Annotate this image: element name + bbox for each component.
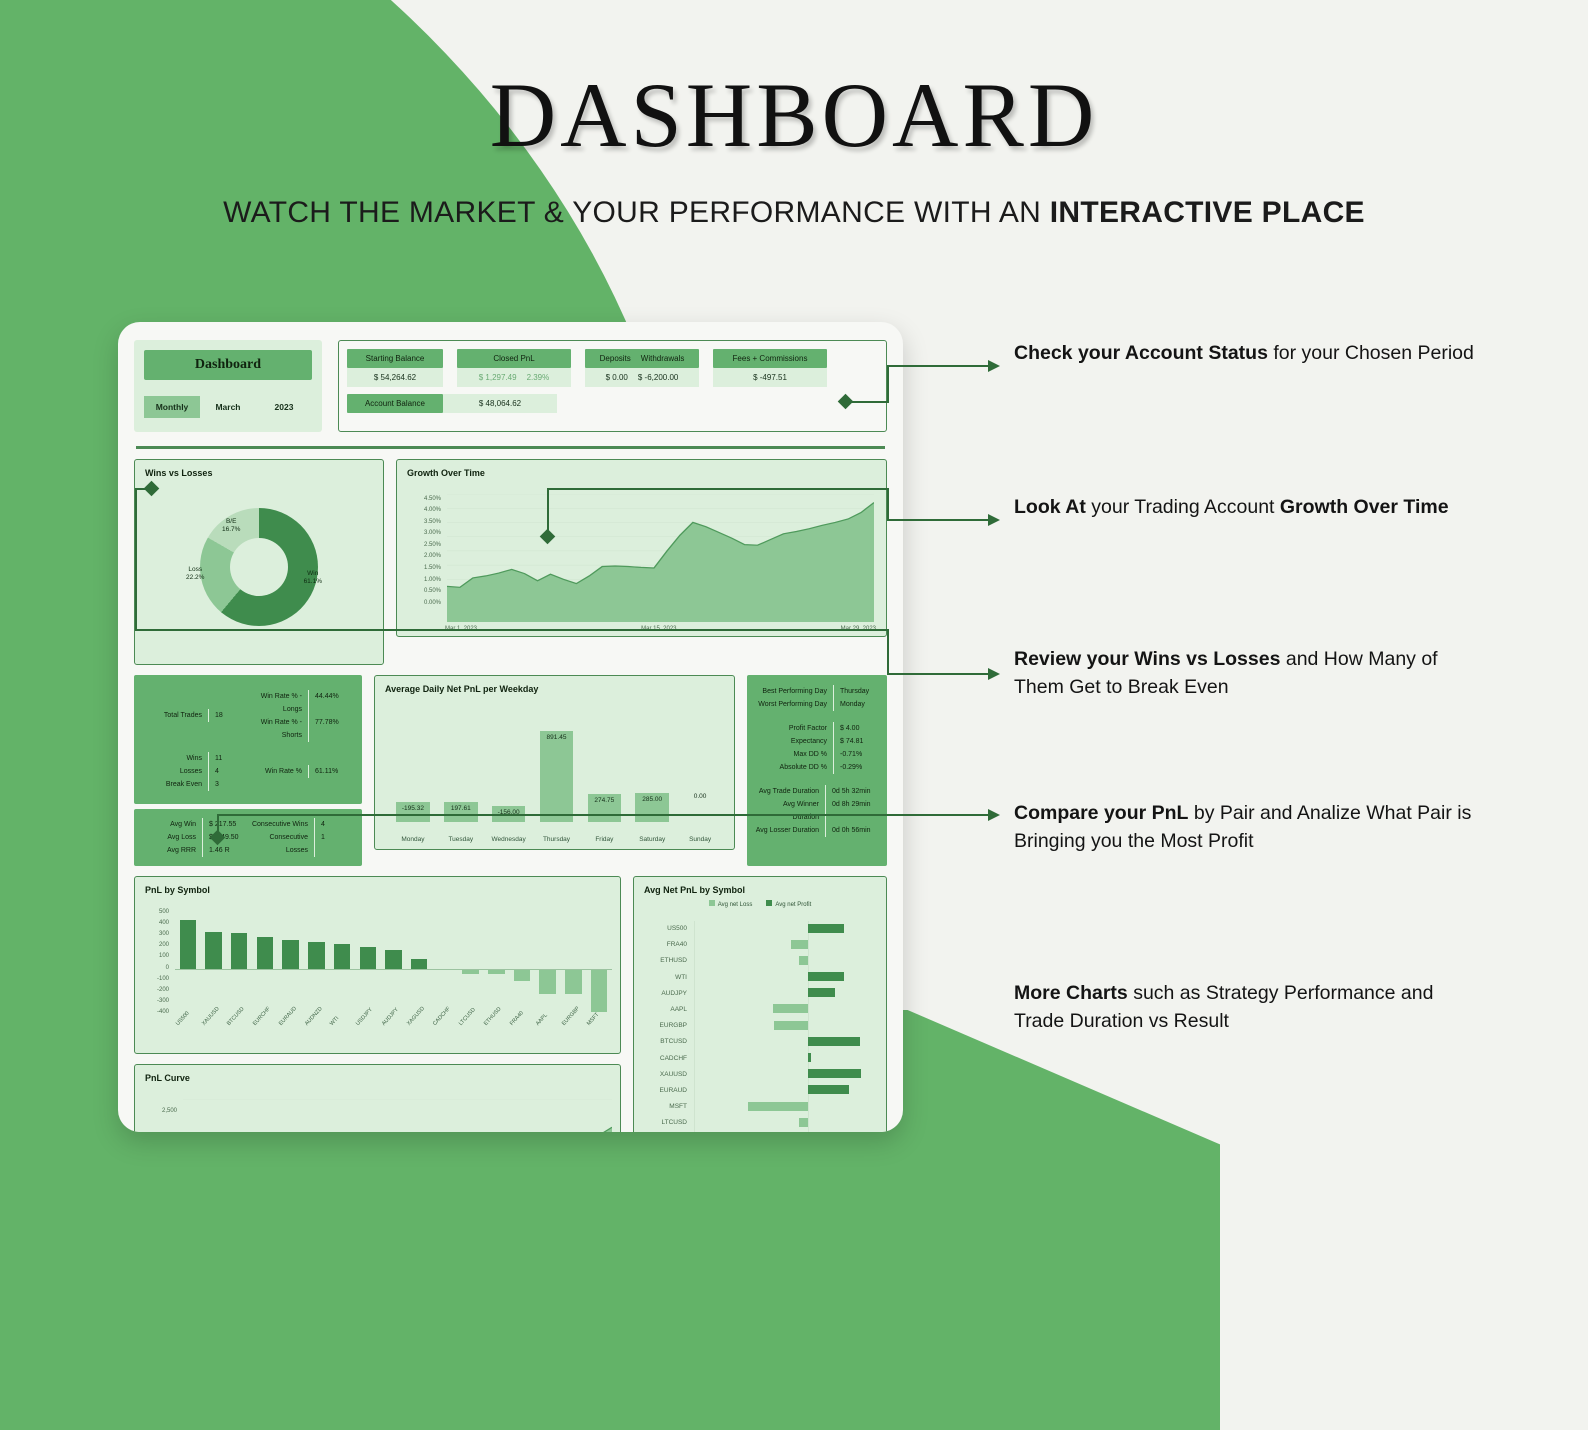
avg-net-track <box>694 1050 878 1066</box>
deposits-withdrawals-values: $ 0.00 $ -6,200.00 <box>585 368 699 387</box>
weekday-bar: -195.32 <box>396 802 430 822</box>
symbol-bar-col <box>252 907 278 1019</box>
avg-net-profit-bar <box>808 1085 849 1094</box>
page-title: DASHBOARD <box>0 62 1588 168</box>
avg-net-row: AAPL <box>642 1001 878 1017</box>
symbol-bar <box>539 969 555 994</box>
growth-y-axis: 4.50%4.00% 3.50%3.00% 2.50%2.00% 1.50%1.… <box>407 494 441 610</box>
deposits-value: $ 0.00 <box>606 373 628 382</box>
charts-row-2: Total Trades18 Win Rate % - Longs44.44% … <box>134 675 887 866</box>
avg-net-track <box>694 1066 878 1082</box>
annotation-growth: Look At your Trading Account Growth Over… <box>1014 494 1484 522</box>
weekday-bar-value: 0.00 <box>694 793 707 800</box>
stat-deposits-withdrawals: Deposits Withdrawals $ 0.00 $ -6,200.00 <box>585 349 699 387</box>
charts-row-1: Wins vs Losses Win61.1% Loss22.2% B/E16.… <box>134 459 887 665</box>
weekday-label: Wednesday <box>485 836 533 843</box>
avg-net-track <box>694 1018 878 1034</box>
stat-starting-balance: Starting Balance $ 54,264.62 <box>347 349 443 387</box>
weekday-x-axis: MondayTuesdayWednesdayThursdayFridaySatu… <box>389 836 724 843</box>
symbol-bar-col <box>329 907 355 1019</box>
avg-net-row: LTCUSD <box>642 1115 878 1131</box>
pnl-symbol-x-axis: US500XAUUSDBTCUSDEURCHFEURAUDAUDNZDWTIUS… <box>175 1023 612 1029</box>
control-panel: Dashboard Monthly March 2023 <box>134 340 322 432</box>
pnl-curve-y-axis: 2,5002,0001,5001,000 <box>143 1097 177 1133</box>
fees-value: $ -497.51 <box>713 368 827 387</box>
weekday-bar: 197.61 <box>444 802 478 822</box>
weekday-pnl-chart: Average Daily Net PnL per Weekday -195.3… <box>374 675 735 850</box>
symbol-bar-col <box>278 907 304 1019</box>
weekday-bar: 285.00 <box>635 793 669 822</box>
weekday-label: Friday <box>580 836 628 843</box>
axis-zero <box>808 937 809 953</box>
axis-zero <box>808 1099 809 1115</box>
symbol-bar-col <box>483 907 509 1019</box>
growth-over-time-chart: Growth Over Time 4.50%4.00% 3.50%3.00% 2… <box>396 459 887 637</box>
pnl-by-symbol-chart: PnL by Symbol 5004003002001000-100-200-3… <box>134 876 621 1054</box>
subtitle-bold: INTERACTIVE PLACE <box>1050 196 1365 229</box>
avg-net-row: XAUUSD <box>642 1066 878 1082</box>
donut-chart <box>200 508 318 626</box>
dashboard-label: Dashboard <box>144 350 312 380</box>
donut-wrapper: Win61.1% Loss22.2% B/E16.7% <box>145 478 373 656</box>
growth-title: Growth Over Time <box>407 468 876 478</box>
avg-net-track <box>694 1034 878 1050</box>
avg-net-track <box>694 921 878 937</box>
axis-zero <box>808 953 809 969</box>
legend-avg-net-profit: Avg net Profit <box>766 900 811 908</box>
axis-zero <box>808 1001 809 1017</box>
symbol-bar <box>257 937 273 968</box>
weekday-bar-col: 891.45 <box>533 712 581 822</box>
avg-net-symbol-label: US500 <box>642 925 694 932</box>
period-monthly[interactable]: Monthly <box>144 396 200 418</box>
avg-net-loss-bar <box>791 940 808 949</box>
avg-net-row: MSFT <box>642 1099 878 1115</box>
avg-net-profit-bar <box>808 1037 859 1046</box>
avg-net-row: FRA40 <box>642 937 878 953</box>
account-balance-row: Account Balance $ 48,064.62 <box>347 394 878 413</box>
avg-net-row: AUDNZD <box>642 1131 878 1132</box>
page-header: DASHBOARD WATCH THE MARKET & YOUR PERFOR… <box>0 0 1588 230</box>
avg-net-row: AUDJPY <box>642 985 878 1001</box>
section-divider <box>136 446 885 449</box>
weekday-bar-value: -195.32 <box>396 805 430 812</box>
avg-net-symbol-label: CADCHF <box>642 1055 694 1062</box>
pnl-symbol-y-axis: 5004003002001000-100-200-300-400 <box>143 907 169 1019</box>
axis-tick: 200 <box>143 940 169 951</box>
starting-balance-value: $ 54,264.62 <box>347 368 443 387</box>
wins-vs-losses-title: Wins vs Losses <box>145 468 373 478</box>
charts-row-3: PnL by Symbol 5004003002001000-100-200-3… <box>134 876 887 1133</box>
avg-net-profit-bar <box>808 924 843 933</box>
account-status-row: Starting Balance $ 54,264.62 Closed PnL … <box>347 349 878 387</box>
symbol-bar-col <box>381 907 407 1019</box>
withdrawals-label: Withdrawals <box>641 354 685 363</box>
avg-net-loss-bar <box>799 956 809 965</box>
winrate-group: Win Rate %61.11% <box>248 765 354 778</box>
pnl-curve-title: PnL Curve <box>145 1073 610 1083</box>
donut-label-be: B/E16.7% <box>222 518 240 534</box>
stat-closed-pnl: Closed PnL $ 1,297.49 2.39% <box>457 349 571 387</box>
symbol-bar-col <box>304 907 330 1019</box>
avg-net-row: ETHUSD <box>642 953 878 969</box>
period-selector[interactable]: Monthly March 2023 <box>144 396 312 418</box>
symbol-bar <box>334 944 350 969</box>
weekday-bar-col: -156.00 <box>485 712 533 822</box>
axis-tick: 400 <box>143 918 169 929</box>
closed-pnl-pct: 2.39% <box>527 373 550 382</box>
avg-net-title: Avg Net PnL by Symbol <box>644 885 876 895</box>
weekday-bar-col: 197.61 <box>437 712 485 822</box>
avg-net-loss-bar <box>748 1102 809 1111</box>
axis-tick: -200 <box>143 985 169 996</box>
axis-tick: 500 <box>143 907 169 918</box>
closed-pnl-label: Closed PnL <box>457 349 571 368</box>
avg-net-legend: Avg net Loss Avg net Profit <box>644 900 876 908</box>
weekday-label: Thursday <box>533 836 581 843</box>
symbol-bar <box>180 920 196 969</box>
avg-net-profit-bar <box>808 972 844 981</box>
annotation-wins-losses: Review your Wins vs Losses and How Many … <box>1014 646 1484 701</box>
symbol-bar-col <box>226 907 252 1019</box>
factors-group: Profit Factor$ 4.00 Expectancy$ 74.81 Ma… <box>755 722 879 774</box>
symbol-bar-col <box>355 907 381 1019</box>
axis-tick: 0 <box>143 963 169 974</box>
axis-tick: -400 <box>143 1007 169 1018</box>
avg-net-track <box>694 1115 878 1131</box>
avg-net-row: BTCUSD <box>642 1034 878 1050</box>
legend-avg-net-loss: Avg net Loss <box>709 900 753 908</box>
weekday-label: Saturday <box>628 836 676 843</box>
symbol-bar-col <box>406 907 432 1019</box>
account-balance-label: Account Balance <box>347 394 443 413</box>
total-trades-group: Total Trades18 <box>142 709 248 722</box>
avg-net-track <box>694 953 878 969</box>
avg-net-row: CADCHF <box>642 1050 878 1066</box>
weekday-bar-value: 891.45 <box>540 734 574 741</box>
avg-net-pnl-chart: Avg Net PnL by Symbol Avg net Loss Avg n… <box>633 876 887 1133</box>
symbol-bar-col <box>458 907 484 1019</box>
dashboard-card: Dashboard Monthly March 2023 Starting Ba… <box>118 322 903 1132</box>
weekday-bar-value: 274.75 <box>588 797 622 804</box>
averages-group: Avg Win$ 217.55 Avg Loss$ -149.50 Avg RR… <box>142 818 248 857</box>
weekday-bar: -156.00 <box>492 806 526 822</box>
performing-days-group: Best Performing DayThursday Worst Perfor… <box>755 685 879 711</box>
avg-net-track <box>694 969 878 985</box>
axis-zero <box>808 1018 809 1034</box>
avg-net-symbol-label: EURAUD <box>642 1087 694 1094</box>
avg-net-symbol-label: XAUUSD <box>642 1071 694 1078</box>
axis-tick: 100 <box>143 951 169 962</box>
weekday-label: Monday <box>389 836 437 843</box>
weekday-title: Average Daily Net PnL per Weekday <box>385 684 724 694</box>
outcome-group: Wins11 Losses4 Break Even3 <box>142 752 248 791</box>
period-year[interactable]: 2023 <box>256 396 312 418</box>
symbol-bar-col <box>509 907 535 1019</box>
page-subtitle: WATCH THE MARKET & YOUR PERFORMANCE WITH… <box>0 196 1588 230</box>
winrate-ls-group: Win Rate % - Longs44.44% Win Rate % - Sh… <box>248 690 354 742</box>
avg-net-track <box>694 985 878 1001</box>
avg-net-symbol-label: AAPL <box>642 1006 694 1013</box>
avg-net-row: EURGBP <box>642 1018 878 1034</box>
symbol-bar-col <box>201 907 227 1019</box>
performance-panel: Best Performing DayThursday Worst Perfor… <box>747 675 887 866</box>
axis-zero <box>808 1131 809 1132</box>
symbol-bar-col <box>535 907 561 1019</box>
period-month[interactable]: March <box>200 396 256 418</box>
metrics-bottom: Avg Win$ 217.55 Avg Loss$ -149.50 Avg RR… <box>134 809 362 866</box>
annotation-account-status: Check your Account Status for your Chose… <box>1014 340 1484 368</box>
avg-net-profit-bar <box>808 988 834 997</box>
weekday-label: Tuesday <box>437 836 485 843</box>
weekday-bar-col: 274.75 <box>580 712 628 822</box>
avg-net-symbol-label: FRA40 <box>642 941 694 948</box>
axis-tick: 2,000 <box>143 1125 177 1133</box>
avg-net-symbol-label: AUDJPY <box>642 990 694 997</box>
withdrawals-value: $ -6,200.00 <box>638 373 678 382</box>
symbol-bar <box>565 969 581 994</box>
metrics-top: Total Trades18 Win Rate % - Longs44.44% … <box>134 675 362 804</box>
closed-pnl-values: $ 1,297.49 2.39% <box>457 368 571 387</box>
growth-x-axis: Mar 1, 2023 Mar 15, 2023 Mar 29, 2023 <box>445 626 876 632</box>
axis-tick: -300 <box>143 996 169 1007</box>
symbol-bar-col <box>175 907 201 1019</box>
avg-net-track <box>694 937 878 953</box>
annotation-more-charts: More Charts such as Strategy Performance… <box>1014 980 1484 1035</box>
avg-net-symbol-label: BTCUSD <box>642 1038 694 1045</box>
avg-net-profit-bar <box>808 1053 810 1062</box>
symbol-bar <box>514 969 530 981</box>
metrics-panel: Total Trades18 Win Rate % - Longs44.44% … <box>134 675 362 866</box>
symbol-bar-col <box>586 907 612 1019</box>
avg-net-track <box>694 1099 878 1115</box>
avg-net-symbol-label: ETHUSD <box>642 957 694 964</box>
deposits-label: Deposits <box>600 354 631 363</box>
symbol-bar <box>385 950 401 969</box>
starting-balance-label: Starting Balance <box>347 349 443 368</box>
stat-fees-commissions: Fees + Commissions $ -497.51 <box>713 349 827 387</box>
avg-net-rows: US500FRA40ETHUSDWTIAUDJPYAAPLEURGBPBTCUS… <box>642 921 878 1133</box>
durations-group: Avg Trade Duration0d 5h 32min Avg Winner… <box>755 785 879 837</box>
symbol-bar <box>231 933 247 969</box>
avg-net-profit-bar <box>808 1069 860 1078</box>
avg-net-track <box>694 1131 878 1132</box>
avg-net-symbol-label: LTCUSD <box>642 1119 694 1126</box>
consecutive-group: Consecutive Wins4 Consecutive Losses1 <box>248 818 354 857</box>
pnl-curve-plot <box>183 1099 612 1133</box>
avg-net-symbol-label: WTI <box>642 974 694 981</box>
zero-line <box>175 969 612 970</box>
avg-net-loss-bar <box>799 1118 809 1127</box>
weekday-bar-col: 0.00 <box>676 712 724 822</box>
fees-label: Fees + Commissions <box>713 349 827 368</box>
avg-net-row: EURAUD <box>642 1082 878 1098</box>
weekday-bar-value: 197.61 <box>444 805 478 812</box>
account-status-box: Starting Balance $ 54,264.62 Closed PnL … <box>338 340 887 432</box>
axis-tick: 2,500 <box>143 1097 177 1125</box>
avg-net-symbol-label: EURGBP <box>642 1022 694 1029</box>
avg-net-track <box>694 1082 878 1098</box>
avg-net-row: US500 <box>642 921 878 937</box>
pnl-symbol-title: PnL by Symbol <box>145 885 610 895</box>
account-balance-value: $ 48,064.62 <box>443 394 557 413</box>
avg-net-symbol-label: MSFT <box>642 1103 694 1110</box>
symbol-bar <box>205 932 221 969</box>
donut-label-win: Win61.1% <box>304 570 322 586</box>
axis-tick: -100 <box>143 974 169 985</box>
axis-zero <box>808 1115 809 1131</box>
deposits-withdrawals-labels: Deposits Withdrawals <box>585 349 699 368</box>
wins-vs-losses-chart: Wins vs Losses Win61.1% Loss22.2% B/E16.… <box>134 459 384 665</box>
top-section: Dashboard Monthly March 2023 Starting Ba… <box>134 340 887 432</box>
avg-net-track <box>694 1001 878 1017</box>
donut-label-loss: Loss22.2% <box>186 566 204 582</box>
subtitle-plain: WATCH THE MARKET & YOUR PERFORMANCE WITH… <box>223 196 1050 229</box>
pnl-curve-chart: PnL Curve 2,5002,0001,5001,000 <box>134 1064 621 1133</box>
avg-net-row: WTI <box>642 969 878 985</box>
closed-pnl-value: $ 1,297.49 <box>479 373 517 382</box>
symbol-bar-col <box>561 907 587 1019</box>
symbol-bar-col <box>432 907 458 1019</box>
weekday-bar-col: 285.00 <box>628 712 676 822</box>
avg-net-loss-bar <box>774 1021 809 1030</box>
weekday-label: Sunday <box>676 836 724 843</box>
weekday-bar-value: 285.00 <box>635 796 669 803</box>
symbol-bar <box>360 947 376 969</box>
annotation-compare-pnl: Compare your PnL by Pair and Analize Wha… <box>1014 800 1484 855</box>
symbol-bar <box>411 959 427 969</box>
avg-net-loss-bar <box>773 1004 808 1013</box>
symbol-bar <box>308 942 324 969</box>
axis-tick: 300 <box>143 929 169 940</box>
growth-plot <box>447 494 874 622</box>
weekday-bar-col: -195.32 <box>389 712 437 822</box>
pnl-symbol-bars <box>175 907 612 1019</box>
symbol-bar <box>282 940 298 968</box>
weekday-bar: 891.45 <box>540 731 574 821</box>
weekday-bar: 274.75 <box>588 794 622 822</box>
weekday-bar-value: -156.00 <box>492 809 526 816</box>
weekday-bars: -195.32197.61-156.00891.45274.75285.000.… <box>389 712 724 822</box>
